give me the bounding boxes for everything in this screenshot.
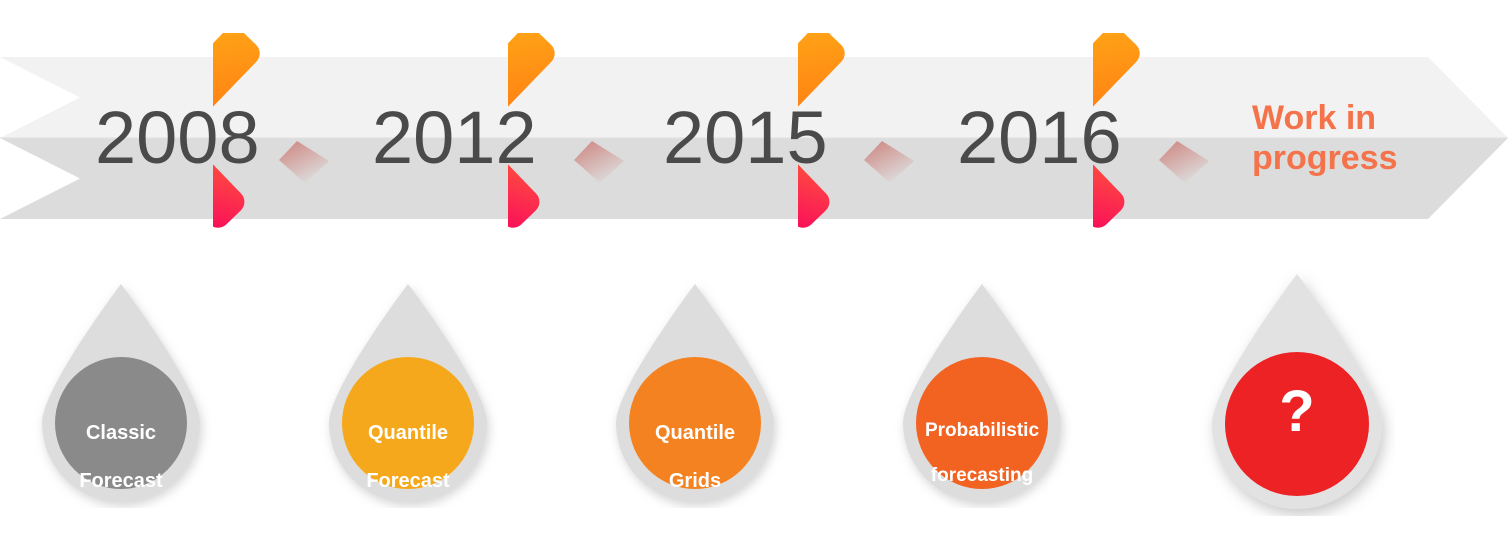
- timeline-infographic: 2008 2012 2015 2016 Work in progress: [0, 0, 1508, 560]
- stage-droplet-quantile-forecast[interactable]: Quantile Forecast: [317, 278, 499, 508]
- stage-droplet-future-unknown[interactable]: ?: [1199, 268, 1395, 516]
- stage-circle: [342, 357, 474, 489]
- chevron-icon: [1093, 33, 1229, 238]
- chevron-icon: [213, 33, 349, 238]
- droplet-shape: [1199, 268, 1395, 516]
- stage-circle: [1225, 352, 1369, 496]
- work-in-progress-line-1: Work in: [1252, 98, 1442, 138]
- stage-droplet-quantile-grids[interactable]: Quantile Grids: [604, 278, 786, 508]
- chevron-icon: [798, 33, 934, 238]
- droplet-shape: [891, 278, 1073, 508]
- chevron-icon: [508, 33, 644, 238]
- chevron-arrow-4: [1093, 33, 1229, 238]
- stage-circle: [629, 357, 761, 489]
- stage-droplet-classic-forecast[interactable]: Classic Forecast: [30, 278, 212, 508]
- stage-droplet-probabilistic-forecasting[interactable]: Probabilistic forecasting: [891, 278, 1073, 508]
- work-in-progress-label: Work in progress: [1252, 98, 1442, 178]
- droplet-shape: [604, 278, 786, 508]
- stage-circle: [916, 357, 1048, 489]
- work-in-progress-line-2: progress: [1252, 138, 1442, 178]
- chevron-arrow-1: [213, 33, 349, 238]
- chevron-arrow-2: [508, 33, 644, 238]
- droplet-shape: [317, 278, 499, 508]
- chevron-arrow-3: [798, 33, 934, 238]
- stage-circle: [55, 357, 187, 489]
- droplet-shape: [30, 278, 212, 508]
